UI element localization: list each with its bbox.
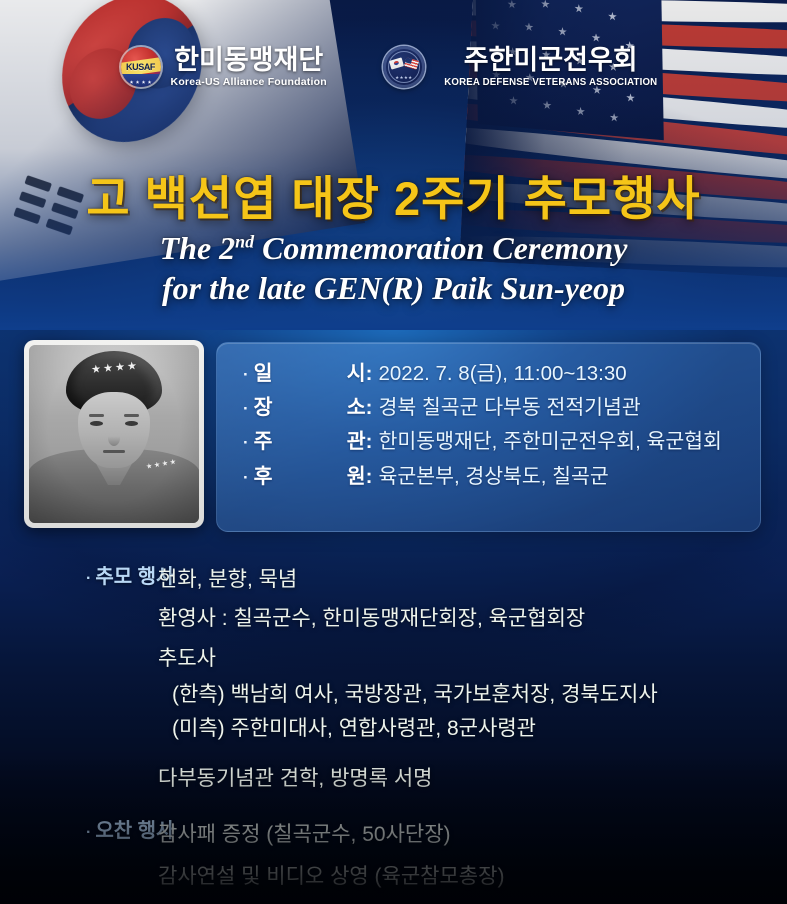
general-paik-sun-yeop-portrait bbox=[29, 345, 199, 523]
info-row-datetime: · 일 시 : 2022. 7. 8(금), 11:00~13:30 bbox=[243, 361, 760, 387]
info-bullet: · bbox=[243, 467, 249, 489]
info-bullet: · bbox=[243, 364, 249, 386]
info-value-datetime: 2022. 7. 8(금), 11:00~13:30 bbox=[379, 361, 627, 387]
program-line: 추도사 bbox=[158, 639, 787, 678]
info-label-char-b: 소 bbox=[347, 395, 366, 421]
kdva-seal-text: ★★★★ bbox=[383, 75, 425, 81]
info-colon: : bbox=[366, 361, 373, 387]
info-label-char-a: 장 bbox=[254, 395, 273, 421]
info-row-organizers: · 주 관 : 한미동맹재단, 주한미군전우회, 육군협회 bbox=[243, 429, 760, 455]
info-value-organizers: 한미동맹재단, 주한미군전우회, 육군협회 bbox=[379, 429, 722, 455]
event-info-panel: · 일 시 : 2022. 7. 8(금), 11:00~13:30 · 장 소… bbox=[216, 342, 761, 532]
title-english-line2: for the late GEN(R) Paik Sun-yeop bbox=[162, 270, 625, 306]
program-section: ·추모 행사 헌화, 분향, 묵념 환영사 : 칠곡군수, 한미동맹재단회장, … bbox=[0, 560, 787, 898]
info-label-char-b: 관 bbox=[347, 429, 366, 455]
logo-kdva: ★★★★ 주한미군전우회 KOREA DEFENSE VETERANS ASSO… bbox=[383, 46, 667, 88]
info-label-organizers: 주 관 bbox=[254, 429, 366, 455]
program-label-memorial: ·추모 행사 bbox=[0, 560, 150, 589]
info-colon: : bbox=[366, 395, 373, 421]
program-line: 감사패 증정 (칠곡군수, 50사단장) bbox=[158, 814, 787, 856]
kdva-name-korean: 주한미군전우회 bbox=[464, 46, 638, 74]
poster-title-english: The 2nd Commemoration Ceremony for the l… bbox=[0, 228, 787, 309]
title-en-post: Commemoration Ceremony bbox=[254, 230, 627, 266]
info-bullet: · bbox=[243, 432, 249, 454]
title-en-ordinal: nd bbox=[235, 231, 254, 251]
info-colon: : bbox=[366, 429, 373, 455]
info-label-char-a: 후 bbox=[254, 464, 273, 490]
kusaf-stars-icon bbox=[121, 80, 161, 84]
info-label-venue: 장 소 bbox=[254, 395, 366, 421]
program-line: 감사연설 및 비디오 상영 (육군참모총장) bbox=[158, 856, 787, 898]
organization-logos: KUSAF 한미동맹재단 Korea-US Alliance Foundatio… bbox=[0, 46, 787, 88]
program-bullet: · bbox=[86, 824, 91, 841]
title-en-pre: The 2 bbox=[160, 230, 236, 266]
title-english-line1: The 2nd Commemoration Ceremony bbox=[160, 230, 628, 266]
kdva-seal-icon: ★★★★ bbox=[383, 46, 425, 88]
kdva-wordmark: 주한미군전우회 KOREA DEFENSE VETERANS ASSOCIATI… bbox=[435, 46, 667, 88]
info-value-venue: 경북 칠곡군 다부동 전적기념관 bbox=[379, 395, 641, 421]
info-row-sponsors: · 후 원 : 육군본부, 경상북도, 칠곡군 bbox=[243, 464, 760, 490]
info-label-sponsors: 후 원 bbox=[254, 464, 366, 490]
event-poster: KUSAF 한미동맹재단 Korea-US Alliance Foundatio… bbox=[0, 0, 787, 904]
info-bullet: · bbox=[243, 398, 249, 420]
program-line: 헌화, 분향, 묵념 bbox=[158, 560, 787, 599]
info-value-sponsors: 육군본부, 경상북도, 칠곡군 bbox=[379, 464, 609, 490]
kusaf-mark-label: KUSAF bbox=[126, 62, 155, 72]
program-line-korean-side: (한측) 백남희 여사, 국방장관, 국가보훈처장, 경북도지사 bbox=[158, 678, 787, 711]
program-bullet: · bbox=[86, 570, 91, 587]
program-block-luncheon: ·오찬 행사 감사패 증정 (칠곡군수, 50사단장) 감사연설 및 비디오 상… bbox=[0, 814, 787, 898]
program-label-luncheon: ·오찬 행사 bbox=[0, 814, 150, 843]
program-line: 환영사 : 칠곡군수, 한미동맹재단회장, 육군협회장 bbox=[158, 599, 787, 638]
info-label-char-b: 원 bbox=[347, 464, 366, 490]
kusaf-wordmark: 한미동맹재단 Korea-US Alliance Foundation bbox=[171, 46, 327, 88]
info-label-char-b: 시 bbox=[347, 361, 366, 387]
program-line-us-side: (미측) 주한미대사, 연합사령관, 8군사령관 bbox=[158, 712, 787, 745]
kusaf-emblem-icon: KUSAF bbox=[121, 47, 161, 87]
info-label-char-a: 주 bbox=[254, 429, 273, 455]
program-lines-luncheon: 감사패 증정 (칠곡군수, 50사단장) 감사연설 및 비디오 상영 (육군참모… bbox=[150, 814, 787, 898]
info-label-char-a: 일 bbox=[254, 361, 273, 387]
kusaf-name-english: Korea-US Alliance Foundation bbox=[171, 76, 327, 88]
kdva-name-english: KOREA DEFENSE VETERANS ASSOCIATION bbox=[444, 76, 657, 88]
program-line: 다부동기념관 견학, 방명록 서명 bbox=[158, 759, 787, 798]
program-lines-memorial: 헌화, 분향, 묵념 환영사 : 칠곡군수, 한미동맹재단회장, 육군협회장 추… bbox=[150, 560, 787, 798]
poster-title-korean: 고 백선엽 대장 2주기 추모행사 bbox=[0, 160, 787, 229]
program-block-memorial: ·추모 행사 헌화, 분향, 묵념 환영사 : 칠곡군수, 한미동맹재단회장, … bbox=[0, 560, 787, 798]
info-row-venue: · 장 소 : 경북 칠곡군 다부동 전적기념관 bbox=[243, 395, 760, 421]
info-colon: : bbox=[366, 464, 373, 490]
kusaf-name-korean: 한미동맹재단 bbox=[174, 46, 323, 74]
logo-kusaf: KUSAF 한미동맹재단 Korea-US Alliance Foundatio… bbox=[121, 46, 327, 88]
info-label-datetime: 일 시 bbox=[254, 361, 366, 387]
portrait-frame bbox=[24, 340, 204, 528]
